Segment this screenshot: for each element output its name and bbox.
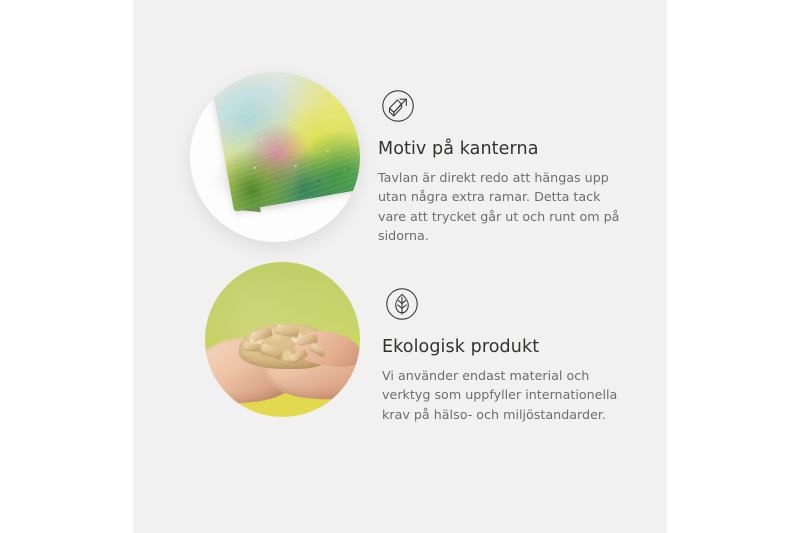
canvas-corner-photo	[190, 72, 360, 242]
feature-text-block: Motiv på kanterna Tavlan är direkt redo …	[378, 72, 667, 245]
product-feature-banner: Motiv på kanterna Tavlan är direkt redo …	[0, 0, 800, 533]
wood-chips-in-hands-photo	[205, 262, 360, 417]
wood-chip	[243, 342, 259, 351]
photo-circle-mask	[205, 262, 360, 417]
feature-row-ekologisk-produkt: Ekologisk produkt Vi använder endast mat…	[133, 262, 667, 424]
feature-description: Vi använder endast material och verktyg …	[382, 366, 634, 424]
feature-row-motiv-pa-kanterna: Motiv på kanterna Tavlan är direkt redo …	[133, 72, 667, 245]
feature-title: Ekologisk produkt	[382, 337, 651, 358]
meadow-background-blur	[205, 262, 360, 327]
photo-circle-mask	[190, 72, 360, 242]
canvas-front-face	[211, 72, 360, 211]
feature-description: Tavlan är direkt redo att hängas upp uta…	[378, 168, 630, 245]
feature-text-block: Ekologisk produkt Vi använder endast mat…	[382, 262, 667, 424]
content-panel: Motiv på kanterna Tavlan är direkt redo …	[133, 0, 667, 533]
feature-title: Motiv på kanterna	[378, 139, 651, 160]
canvas-wrapped-edge-icon	[378, 86, 418, 126]
leaf-icon	[382, 284, 422, 324]
paint-speckle-texture	[211, 72, 360, 211]
